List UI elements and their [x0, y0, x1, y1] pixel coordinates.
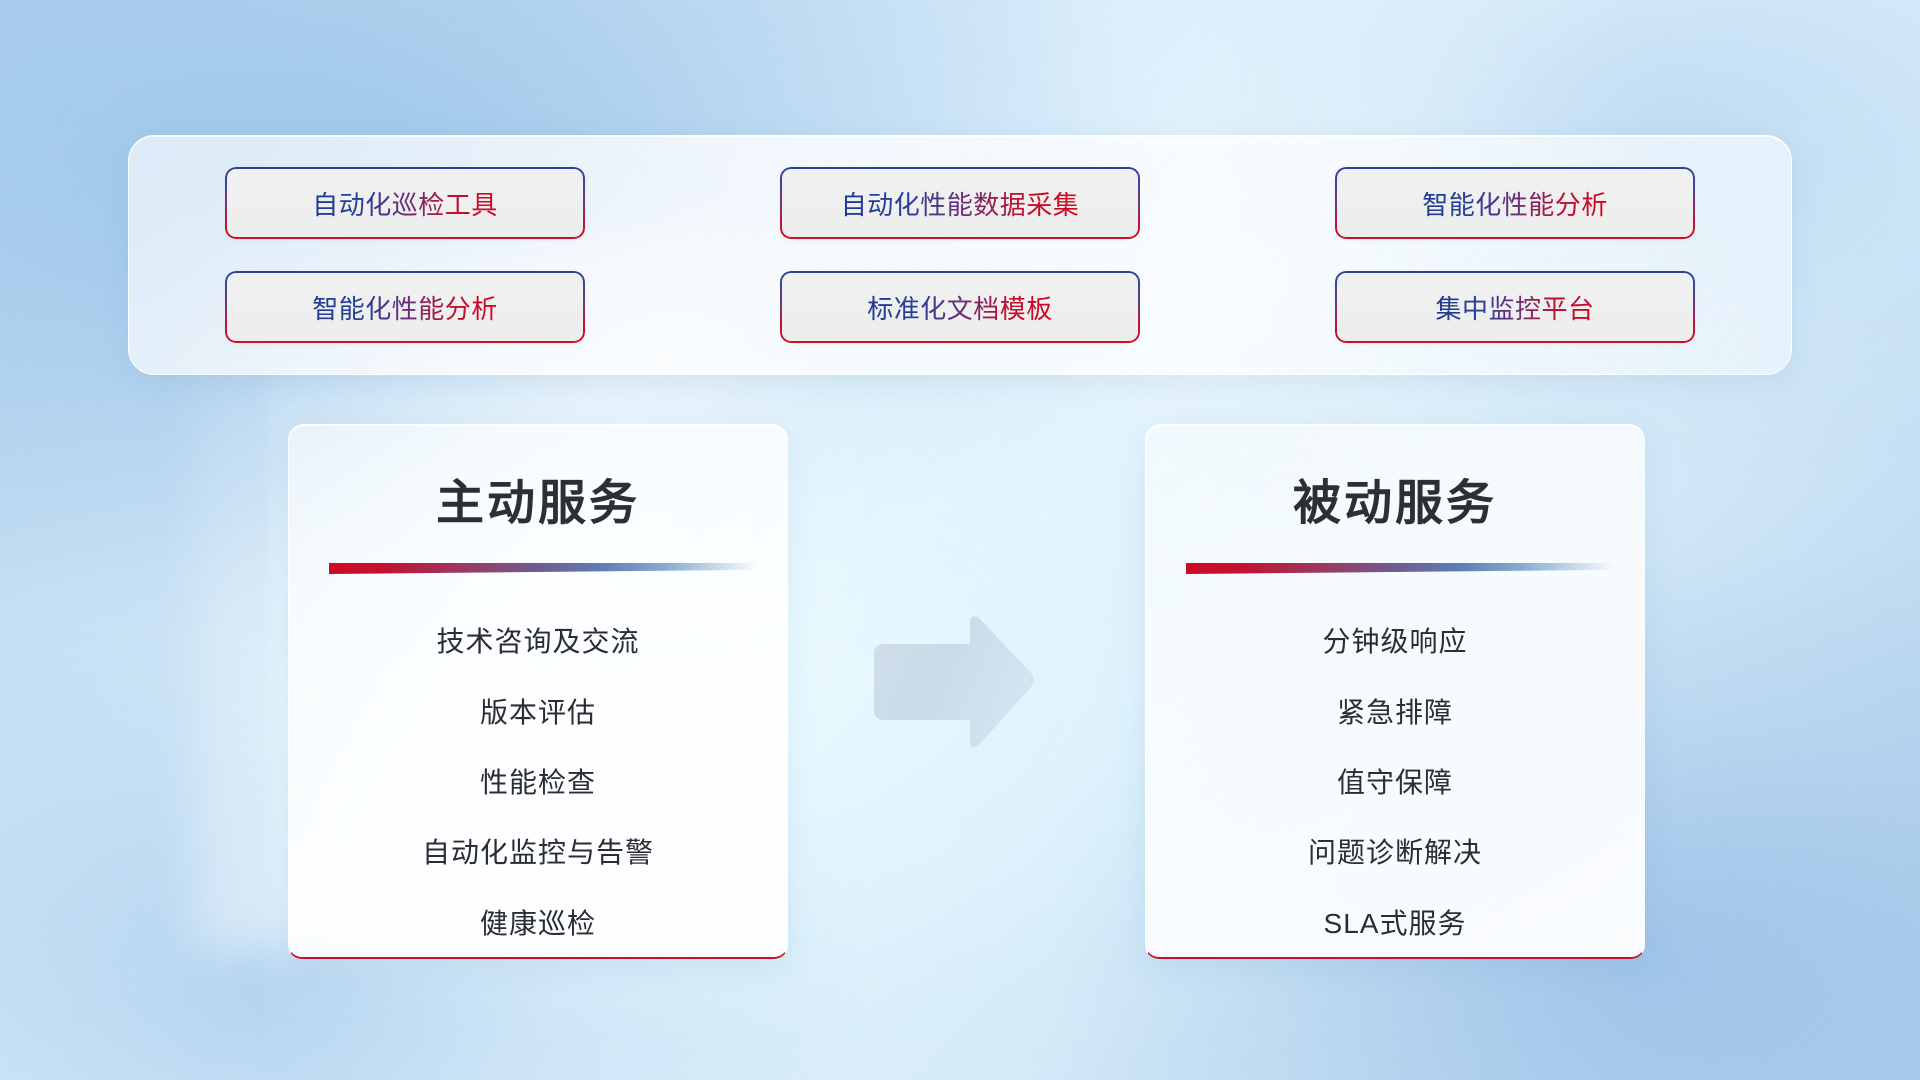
- capability-tag-label: 自动化巡检工具: [312, 185, 498, 222]
- card-title: 主动服务: [323, 463, 753, 533]
- list-item: 值守保障: [1180, 746, 1610, 816]
- capability-tag-intelligent-performance-analysis-1[interactable]: 智能化性能分析: [1335, 167, 1695, 239]
- list-item: SLA式服务: [1180, 887, 1610, 957]
- capability-tag-label: 集中监控平台: [1435, 289, 1594, 326]
- card-title: 被动服务: [1180, 463, 1610, 533]
- capability-row-2: 智能化性能分析 标准化文档模板 集中监控平台: [225, 271, 1695, 343]
- capability-tag-label: 智能化性能分析: [1422, 185, 1608, 222]
- card-item-list: 技术咨询及交流 版本评估 性能检查 自动化监控与告警 健康巡检: [323, 605, 753, 957]
- list-item: 健康巡检: [323, 887, 753, 957]
- capability-tag-automated-inspection-tool[interactable]: 自动化巡检工具: [225, 167, 585, 239]
- list-item: 技术咨询及交流: [323, 605, 753, 675]
- list-item: 版本评估: [323, 675, 753, 745]
- list-item: 分钟级响应: [1180, 605, 1610, 675]
- capability-row-1: 自动化巡检工具 自动化性能数据采集 智能化性能分析: [225, 167, 1695, 239]
- card-divider: [323, 563, 753, 577]
- capability-tag-label: 智能化性能分析: [312, 289, 498, 326]
- capability-tag-centralized-monitoring-platform[interactable]: 集中监控平台: [1335, 271, 1695, 343]
- card-item-list: 分钟级响应 紧急排障 值守保障 问题诊断解决 SLA式服务: [1180, 605, 1610, 957]
- list-item: 自动化监控与告警: [323, 816, 753, 886]
- capability-tag-label: 标准化文档模板: [867, 289, 1053, 326]
- capability-tag-standardized-doc-template[interactable]: 标准化文档模板: [780, 271, 1140, 343]
- capability-panel: 自动化巡检工具 自动化性能数据采集 智能化性能分析 智能化性能分析 标准化文档模…: [128, 135, 1792, 375]
- list-item: 问题诊断解决: [1180, 816, 1610, 886]
- list-item: 紧急排障: [1180, 675, 1610, 745]
- capability-tag-label: 自动化性能数据采集: [841, 185, 1080, 222]
- card-divider: [1180, 563, 1610, 577]
- card-divider-bar: [1186, 563, 1614, 574]
- service-card-reactive: 被动服务 分钟级响应 紧急排障 值守保障 问题诊断解决 SLA式服务: [1145, 424, 1645, 959]
- capability-tag-automated-performance-collection[interactable]: 自动化性能数据采集: [780, 167, 1140, 239]
- capability-tag-intelligent-performance-analysis-2[interactable]: 智能化性能分析: [225, 271, 585, 343]
- right-arrow-icon: [866, 610, 1038, 758]
- card-divider-bar: [329, 563, 757, 574]
- service-card-proactive: 主动服务 技术咨询及交流 版本评估 性能检查 自动化监控与告警 健康巡检: [288, 424, 788, 959]
- list-item: 性能检查: [323, 746, 753, 816]
